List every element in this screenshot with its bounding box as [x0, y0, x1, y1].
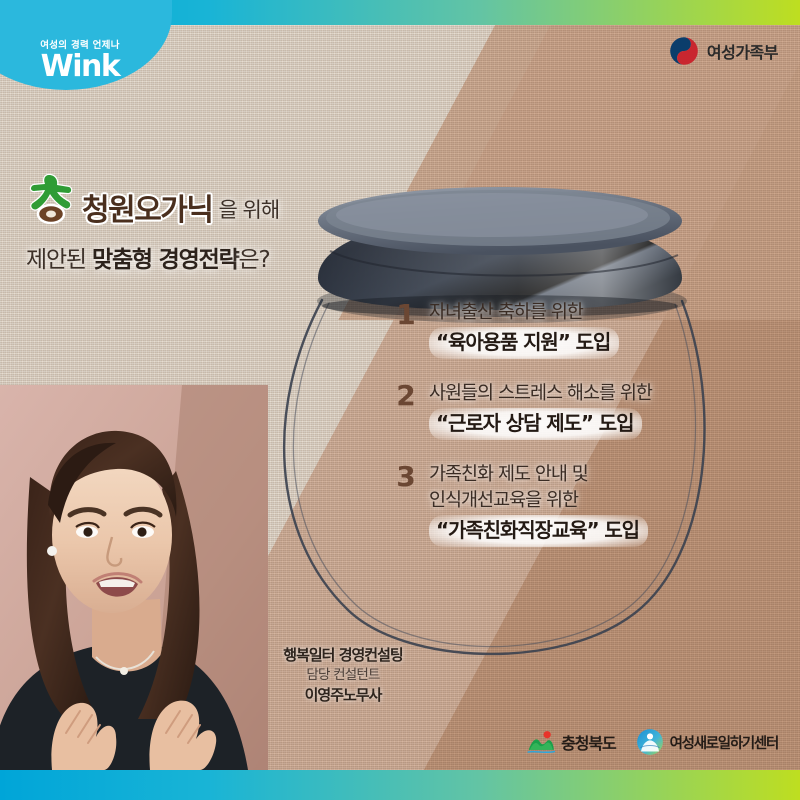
bottom-gradient-bar [0, 770, 800, 800]
strategy-line: 사원들의 스트레스 해소를 위한 [429, 381, 736, 408]
strategy-number: 1 [396, 300, 416, 329]
strategy-item-2: 2 사원들의 스트레스 해소를 위한 “근로자 상담 제도” 도입 [396, 381, 736, 440]
card-news-slide: 여성의 경력 언제나 Wink 여성가족부 [0, 0, 800, 800]
partner-chungbuk: 충청북도 [527, 728, 615, 756]
ministry-logo: 여성가족부 [669, 36, 778, 66]
headline-block: 청원오가닉 을 위해 제안된 맞춤형 경영전략은? [26, 172, 366, 274]
question-emphasis: 맞춤형 경영전략 [92, 247, 239, 273]
headline-row-company: 청원오가닉 을 위해 [26, 172, 366, 226]
strategy-text: 가족친화 제도 안내 및 인식개선교육을 위한 “가족친화직장교육” 도입 [429, 462, 736, 548]
question-suffix: 은? [239, 247, 270, 273]
strategy-text: 사원들의 스트레스 해소를 위한 “근로자 상담 제도” 도입 [429, 381, 736, 440]
partner-label: 여성새로일하기센터 [670, 732, 778, 753]
consultant-credit: 행복일터 경영컨설팅 담당 컨설턴트 이영주노무사 [248, 645, 438, 707]
taegeuk-icon [669, 36, 699, 66]
strategy-list: 1 자녀출산 축하를 위한 “육아용품 지원” 도입 2 사원들의 스트레스 해… [396, 300, 736, 569]
chungbuk-mountain-icon [527, 728, 555, 756]
cheongwon-organic-logo-icon [26, 172, 76, 224]
headline-suffix: 을 위해 [219, 194, 280, 224]
partner-logos: 충청북도 여성새로일하기센터 [527, 728, 778, 756]
strategy-item-1: 1 자녀출산 축하를 위한 “육아용품 지원” 도입 [396, 300, 736, 359]
credit-role: 담당 컨설턴트 [248, 666, 438, 685]
strategy-line: 자녀출산 축하를 위한 [429, 300, 736, 327]
strategy-line: 가족친화 제도 안내 및 [429, 462, 736, 489]
strategy-highlight: “근로자 상담 제도” 도입 [429, 408, 642, 440]
strategy-text: 자녀출산 축하를 위한 “육아용품 지원” 도입 [429, 300, 736, 359]
credit-organization: 행복일터 경영컨설팅 [248, 645, 438, 666]
strategy-item-3: 3 가족친화 제도 안내 및 인식개선교육을 위한 “가족친화직장교육” 도입 [396, 462, 736, 548]
question-prefix: 제안된 [26, 247, 92, 273]
partner-label: 충청북도 [561, 730, 615, 754]
strategy-highlight: “육아용품 지원” 도입 [429, 327, 619, 359]
consultant-portrait-photo [0, 385, 268, 770]
ministry-label: 여성가족부 [707, 39, 778, 63]
strategy-number: 3 [396, 462, 416, 491]
strategy-line: 인식개선교육을 위한 [429, 488, 736, 515]
saeil-center-icon [636, 728, 664, 756]
wink-wordmark: Wink [41, 52, 120, 82]
company-name: 청원오가닉 [82, 196, 213, 226]
headline-row-question: 제안된 맞춤형 경영전략은? [26, 240, 366, 274]
strategy-highlight: “가족친화직장교육” 도입 [429, 515, 648, 547]
partner-saeil-center: 여성새로일하기센터 [636, 728, 778, 756]
credit-name: 이영주노무사 [248, 685, 438, 706]
strategy-number: 2 [396, 381, 416, 410]
